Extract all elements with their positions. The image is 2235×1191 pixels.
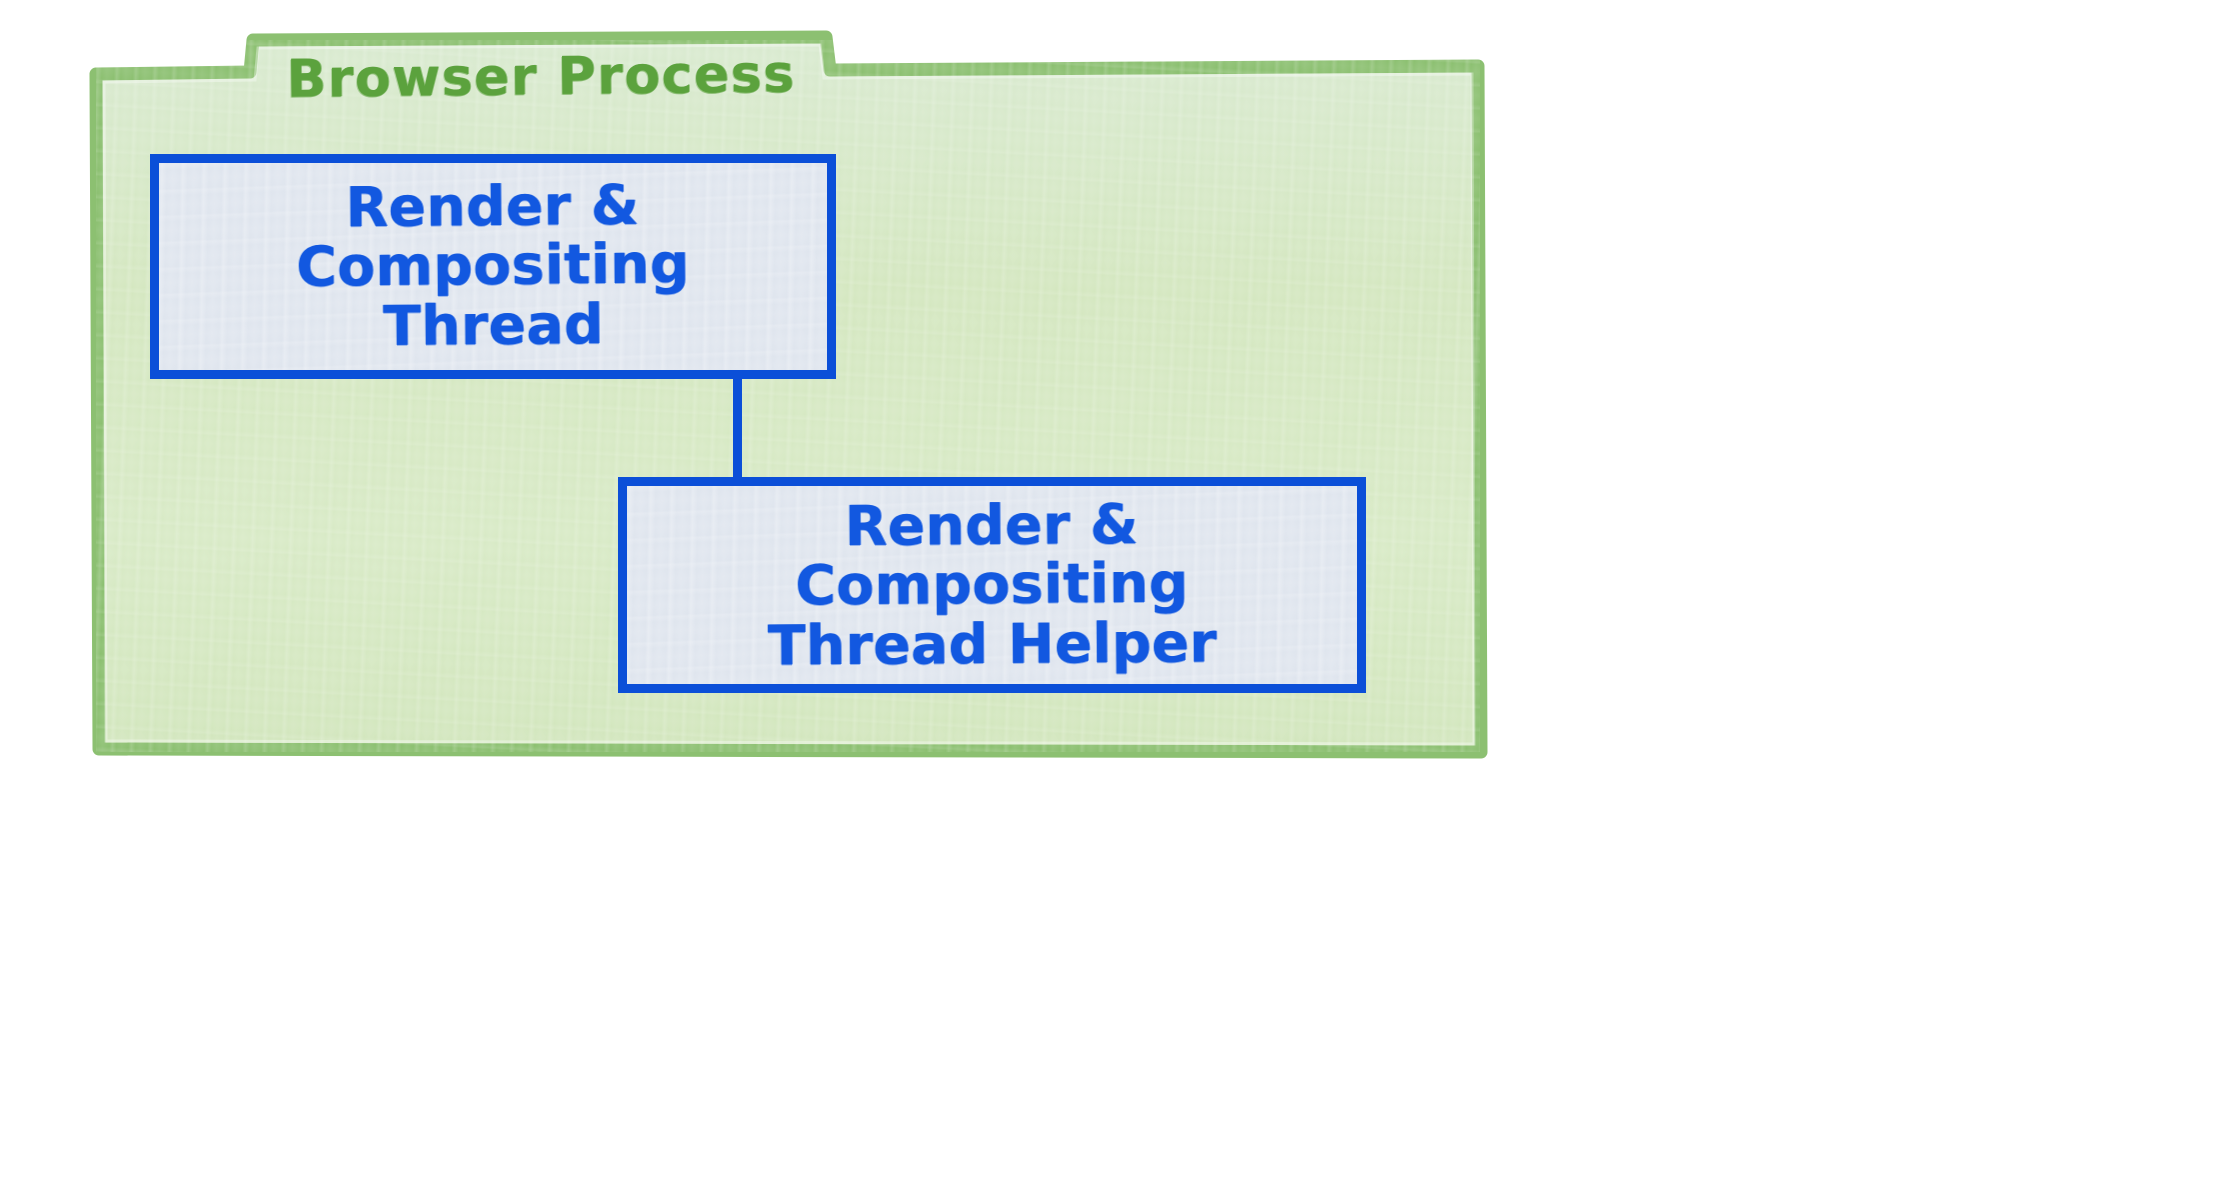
node-render-thread-label: Render & CompositingThread	[158, 174, 828, 358]
diagram-canvas: Browser Process Render & CompositingThre…	[0, 0, 2235, 1191]
node-render-and-compositing-thread-helper[interactable]: Render & CompositingThread Helper	[618, 477, 1366, 693]
node-render-thread-helper-line1: Render & Compositing	[795, 492, 1189, 618]
node-render-thread-line1: Render & Compositing	[296, 173, 690, 299]
browser-process-title: Browser Process	[250, 43, 833, 111]
node-render-thread-line2: Thread	[383, 292, 604, 358]
node-render-and-compositing-thread[interactable]: Render & CompositingThread	[150, 154, 836, 379]
node-render-thread-helper-label: Render & CompositingThread Helper	[626, 493, 1357, 676]
connector-render-thread-to-helper	[733, 372, 742, 484]
node-render-thread-helper-line2: Thread Helper	[768, 610, 1218, 677]
